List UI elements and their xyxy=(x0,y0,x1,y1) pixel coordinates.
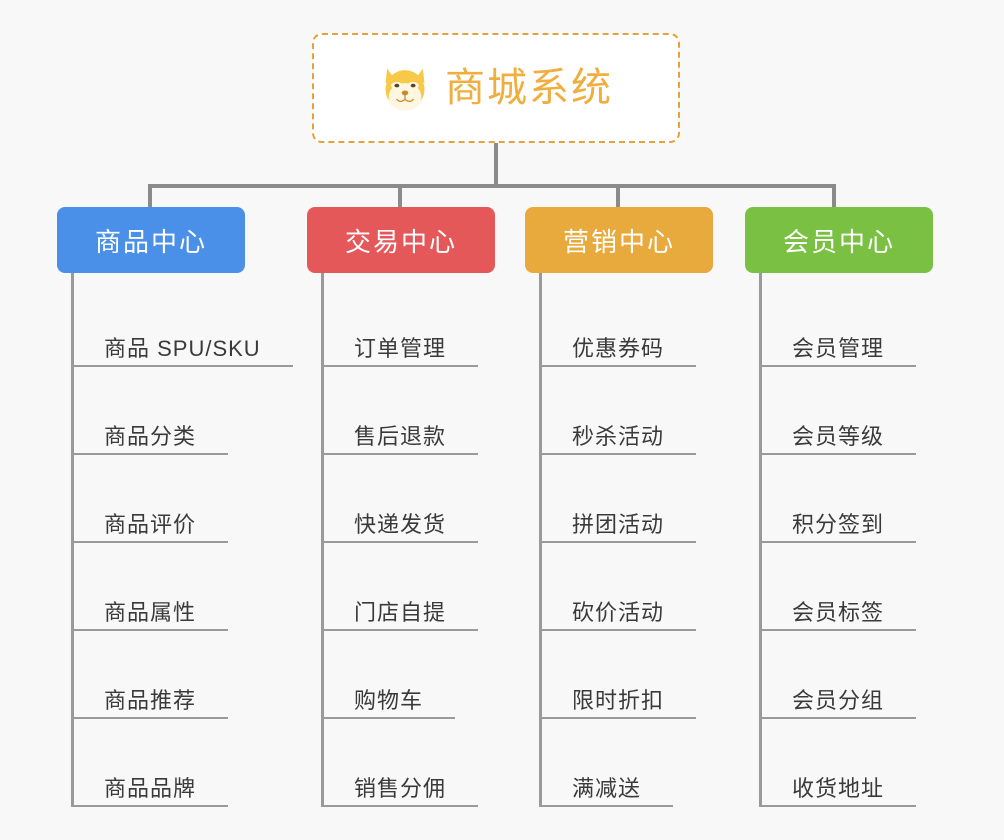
list-item-label: 商品属性 xyxy=(74,601,206,631)
category-column-member: 会员中心 会员管理 会员等级 积分签到 会员标签 会员分组 收货地址 xyxy=(745,207,955,807)
list-item[interactable]: 商品品牌 xyxy=(74,719,287,807)
root-node[interactable]: 商城系统 xyxy=(312,33,680,143)
connector-drop-0 xyxy=(148,186,152,209)
mindmap-canvas: 商城系统 商品中心 商品 SPU/SKU 商品分类 商品评价 商品属性 商品推荐… xyxy=(0,0,1004,840)
list-item[interactable]: 会员分组 xyxy=(762,631,955,719)
category-header-marketing[interactable]: 营销中心 xyxy=(525,207,713,273)
list-item[interactable]: 订单管理 xyxy=(324,279,522,367)
category-column-product: 商品中心 商品 SPU/SKU 商品分类 商品评价 商品属性 商品推荐 商品品牌 xyxy=(57,207,287,807)
list-item[interactable]: 销售分佣 xyxy=(324,719,522,807)
list-item[interactable]: 满减送 xyxy=(542,719,735,807)
category-header-product[interactable]: 商品中心 xyxy=(57,207,245,273)
list-item-label: 商品 SPU/SKU xyxy=(74,337,271,367)
list-item[interactable]: 商品分类 xyxy=(74,367,287,455)
list-item-label: 拼团活动 xyxy=(542,513,674,543)
list-item[interactable]: 会员标签 xyxy=(762,543,955,631)
connector-drop-2 xyxy=(616,186,620,209)
list-item[interactable]: 购物车 xyxy=(324,631,522,719)
list-item[interactable]: 积分签到 xyxy=(762,455,955,543)
category-header-member[interactable]: 会员中心 xyxy=(745,207,933,273)
list-item-label: 会员等级 xyxy=(762,425,894,455)
list-item-label: 商品评价 xyxy=(74,513,206,543)
list-item-label: 限时折扣 xyxy=(542,689,674,719)
list-item-label: 售后退款 xyxy=(324,425,456,455)
connector-root-stem xyxy=(494,143,498,186)
list-item[interactable]: 门店自提 xyxy=(324,543,522,631)
list-item[interactable]: 售后退款 xyxy=(324,367,522,455)
branch-product: 商品 SPU/SKU 商品分类 商品评价 商品属性 商品推荐 商品品牌 xyxy=(71,273,287,807)
category-header-label: 交易中心 xyxy=(345,222,457,259)
category-column-marketing: 营销中心 优惠券码 秒杀活动 拼团活动 砍价活动 限时折扣 满减送 xyxy=(525,207,735,807)
list-item[interactable]: 商品 SPU/SKU xyxy=(74,279,287,367)
connector-horizontal-bus xyxy=(148,184,836,188)
list-item[interactable]: 会员管理 xyxy=(762,279,955,367)
list-item-label: 秒杀活动 xyxy=(542,425,674,455)
branch-marketing: 优惠券码 秒杀活动 拼团活动 砍价活动 限时折扣 满减送 xyxy=(539,273,735,807)
category-header-label: 会员中心 xyxy=(783,222,895,259)
list-item-label: 满减送 xyxy=(542,777,651,807)
list-item-label: 商品分类 xyxy=(74,425,206,455)
shiba-dog-icon xyxy=(379,62,431,114)
list-item-label: 购物车 xyxy=(324,689,433,719)
list-item[interactable]: 拼团活动 xyxy=(542,455,735,543)
list-item-label: 会员管理 xyxy=(762,337,894,367)
list-item-label: 会员分组 xyxy=(762,689,894,719)
list-item[interactable]: 砍价活动 xyxy=(542,543,735,631)
list-item-label: 收货地址 xyxy=(762,777,894,807)
list-item-label: 积分签到 xyxy=(762,513,894,543)
list-item-label: 商品推荐 xyxy=(74,689,206,719)
list-item[interactable]: 商品推荐 xyxy=(74,631,287,719)
list-item-label: 会员标签 xyxy=(762,601,894,631)
list-item[interactable]: 快递发货 xyxy=(324,455,522,543)
category-column-trade: 交易中心 订单管理 售后退款 快递发货 门店自提 购物车 销售分佣 xyxy=(307,207,522,807)
connector-drop-1 xyxy=(398,186,402,209)
category-header-label: 营销中心 xyxy=(563,222,675,259)
list-item[interactable]: 商品评价 xyxy=(74,455,287,543)
list-item-label: 砍价活动 xyxy=(542,601,674,631)
category-header-trade[interactable]: 交易中心 xyxy=(307,207,495,273)
list-item-label: 快递发货 xyxy=(324,513,456,543)
list-item[interactable]: 优惠券码 xyxy=(542,279,735,367)
list-item[interactable]: 收货地址 xyxy=(762,719,955,807)
list-item[interactable]: 秒杀活动 xyxy=(542,367,735,455)
list-item-label: 优惠券码 xyxy=(542,337,674,367)
branch-member: 会员管理 会员等级 积分签到 会员标签 会员分组 收货地址 xyxy=(759,273,955,807)
list-item-label: 销售分佣 xyxy=(324,777,456,807)
list-item[interactable]: 限时折扣 xyxy=(542,631,735,719)
list-item-label: 商品品牌 xyxy=(74,777,206,807)
list-item-label: 门店自提 xyxy=(324,601,456,631)
root-title: 商城系统 xyxy=(445,68,613,108)
list-item[interactable]: 商品属性 xyxy=(74,543,287,631)
list-item-label: 订单管理 xyxy=(324,337,456,367)
list-item[interactable]: 会员等级 xyxy=(762,367,955,455)
branch-trade: 订单管理 售后退款 快递发货 门店自提 购物车 销售分佣 xyxy=(321,273,522,807)
category-header-label: 商品中心 xyxy=(95,222,207,259)
connector-drop-3 xyxy=(832,186,836,209)
